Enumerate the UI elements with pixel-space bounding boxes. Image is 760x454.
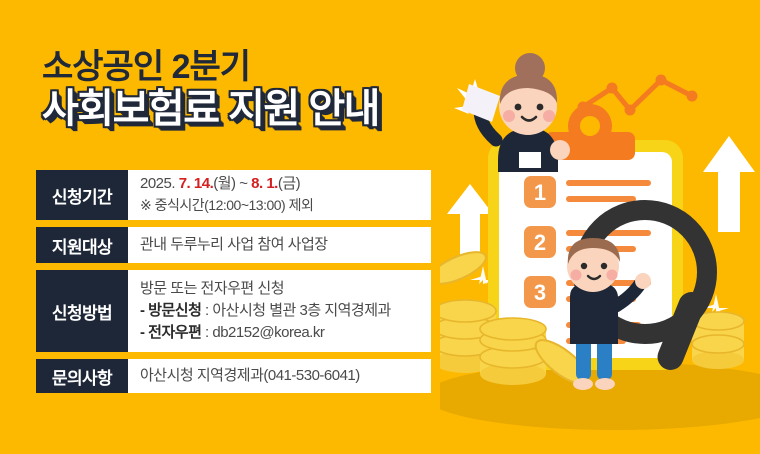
text-segment: - bbox=[140, 302, 148, 319]
text-segment: - bbox=[140, 324, 148, 341]
info-row-line: 관내 두루누리 사업 참여 사업장 bbox=[140, 234, 421, 256]
svg-text:3: 3 bbox=[534, 280, 546, 305]
info-row-line: 아산시청 지역경제과(041-530-6041) bbox=[140, 365, 421, 387]
magnifier-icon bbox=[583, 210, 708, 374]
svg-text:2: 2 bbox=[534, 230, 546, 255]
text-segment: 8. 1. bbox=[251, 175, 278, 192]
info-row-line: ※ 중식시간(12:00~13:00) 제외 bbox=[140, 195, 421, 217]
clipboard-clip bbox=[545, 104, 635, 160]
text-segment: : db2152@korea.kr bbox=[201, 324, 324, 341]
character-woman bbox=[462, 53, 570, 172]
checklist-extra-lines bbox=[566, 322, 641, 344]
info-table: 신청기간2025. 7. 14.(월) ~ 8. 1.(금)※ 중식시간(12:… bbox=[36, 170, 431, 393]
coin-stack-a bbox=[440, 300, 496, 373]
info-row-label: 신청기간 bbox=[36, 170, 128, 220]
coin-stack-group bbox=[440, 246, 744, 391]
coin-leaning bbox=[529, 333, 594, 391]
text-segment: 2025. bbox=[140, 175, 179, 192]
coin-leaning bbox=[440, 246, 490, 291]
arrow-up-right-icon bbox=[703, 136, 755, 232]
info-row-line: 2025. 7. 14.(월) ~ 8. 1.(금) bbox=[140, 173, 421, 195]
info-row-body: 관내 두루누리 사업 참여 사업장 bbox=[128, 227, 431, 263]
info-row-label: 지원대상 bbox=[36, 227, 128, 263]
clipboard-board bbox=[488, 140, 683, 370]
text-segment: (금) bbox=[278, 175, 300, 192]
info-row-line: - 방문신청 : 아산시청 별관 3층 지역경제과 bbox=[140, 300, 421, 322]
coin-stack-c bbox=[692, 312, 744, 369]
promo-banner: 1 2 3 bbox=[0, 0, 760, 454]
info-row-body: 아산시청 지역경제과(041-530-6041) bbox=[128, 359, 431, 393]
info-row: 신청기간2025. 7. 14.(월) ~ 8. 1.(금)※ 중식시간(12:… bbox=[36, 170, 431, 220]
trend-line-dots bbox=[578, 75, 698, 116]
info-row: 문의사항아산시청 지역경제과(041-530-6041) bbox=[36, 359, 431, 393]
illustration-artwork: 1 2 3 bbox=[440, 0, 760, 454]
title-line-1: 소상공인 2분기 bbox=[42, 48, 462, 86]
info-row-label: 신청방법 bbox=[36, 270, 128, 352]
info-row: 신청방법방문 또는 전자우편 신청- 방문신청 : 아산시청 별관 3층 지역경… bbox=[36, 270, 431, 352]
character-boy bbox=[567, 238, 651, 390]
info-row-body: 방문 또는 전자우편 신청- 방문신청 : 아산시청 별관 3층 지역경제과- … bbox=[128, 270, 431, 352]
text-segment: (월) ~ bbox=[213, 175, 251, 192]
sparkle-icon bbox=[470, 266, 496, 284]
text-segment: 7. 14. bbox=[179, 175, 214, 192]
text-segment: : 아산시청 별관 3층 지역경제과 bbox=[201, 302, 390, 319]
checklist-item-1: 1 bbox=[524, 176, 651, 208]
text-segment: 아산시청 지역경제과(041-530-6041) bbox=[140, 367, 360, 384]
info-row: 지원대상관내 두루누리 사업 참여 사업장 bbox=[36, 227, 431, 263]
sparkle-icon bbox=[703, 294, 729, 312]
svg-text:1: 1 bbox=[534, 180, 546, 205]
info-row-label: 문의사항 bbox=[36, 359, 128, 393]
text-segment: ※ 중식시간(12:00~13:00) 제외 bbox=[140, 197, 313, 213]
arrow-up-left-icon bbox=[447, 184, 493, 268]
text-segment: 방문신청 bbox=[148, 302, 201, 319]
text-segment: 전자우편 bbox=[148, 324, 201, 341]
title-line-2: 사회보험료 지원 안내 bbox=[42, 87, 462, 132]
coin-stack-b bbox=[480, 318, 546, 385]
trend-line-icon bbox=[583, 80, 692, 110]
checklist-item-2: 2 bbox=[524, 226, 651, 258]
clipboard-paper bbox=[499, 152, 672, 358]
text-segment: 방문 또는 전자우편 신청 bbox=[140, 280, 284, 297]
info-row-line: - 전자우편 : db2152@korea.kr bbox=[140, 322, 421, 344]
info-row-body: 2025. 7. 14.(월) ~ 8. 1.(금)※ 중식시간(12:00~1… bbox=[128, 170, 431, 220]
page-title: 소상공인 2분기 사회보험료 지원 안내 bbox=[42, 48, 462, 132]
text-segment: 관내 두루누리 사업 참여 사업장 bbox=[140, 236, 328, 253]
info-row-line: 방문 또는 전자우편 신청 bbox=[140, 278, 421, 300]
checklist-item-3: 3 bbox=[524, 276, 651, 308]
ground-shadow bbox=[440, 362, 760, 430]
